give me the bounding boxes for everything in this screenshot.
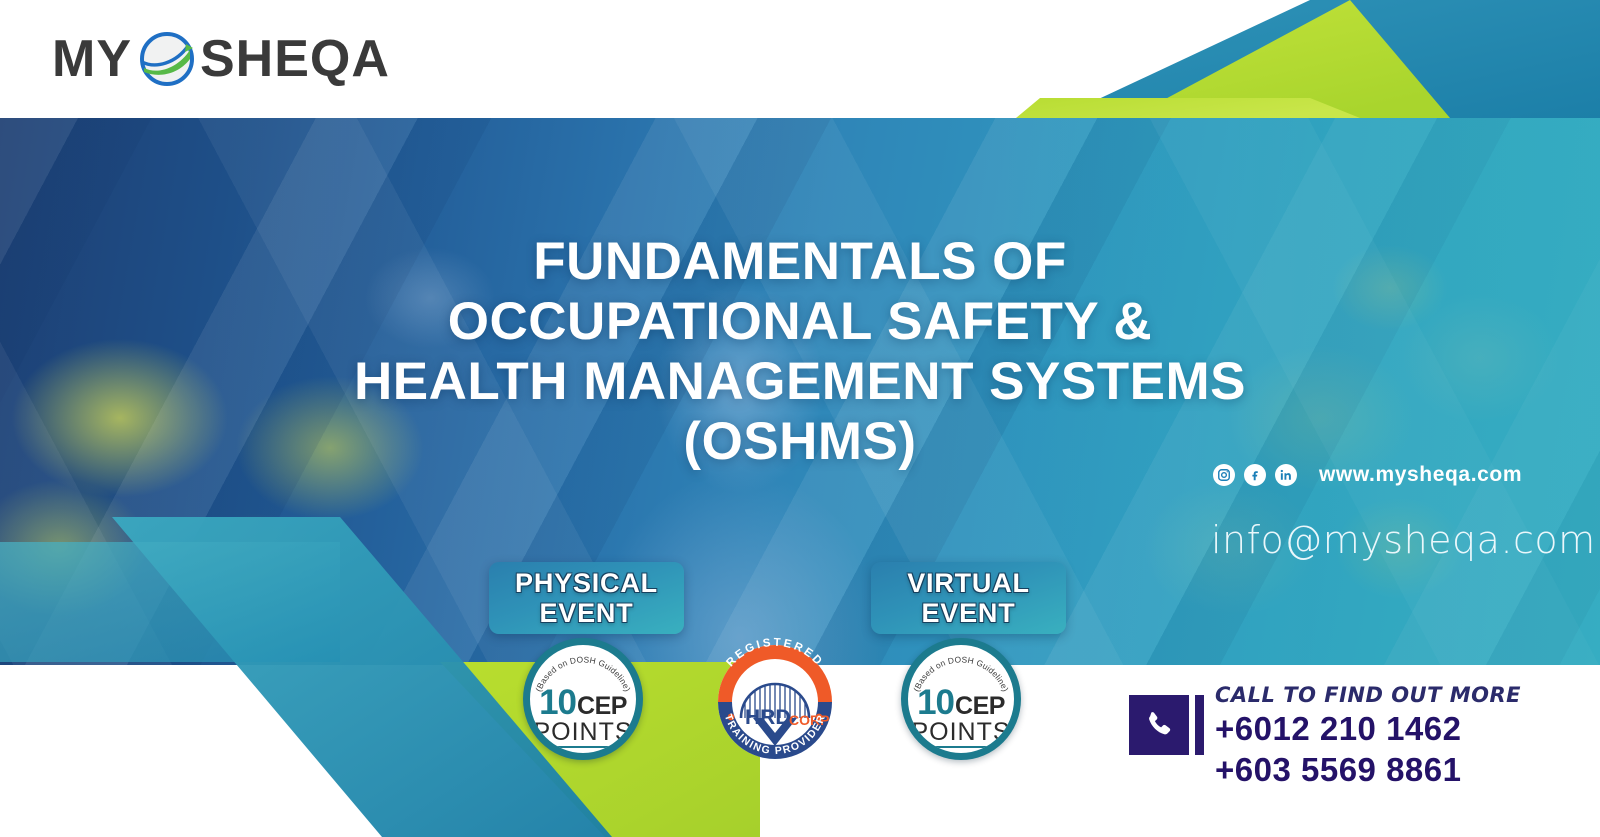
call-text-group: CALL TO FIND OUT MORE +6012 210 1462 +60… bbox=[1215, 682, 1521, 790]
poster-title: FUNDAMENTALS OF OCCUPATIONAL SAFETY & HE… bbox=[300, 232, 1300, 472]
teal-slab bbox=[0, 542, 340, 662]
physical-event-line2: EVENT bbox=[539, 598, 633, 628]
globe-swoosh-icon bbox=[136, 28, 198, 90]
facebook-icon[interactable] bbox=[1244, 464, 1266, 486]
phone-handset-icon bbox=[1129, 695, 1189, 755]
title-line-4: (OSHMS) bbox=[300, 412, 1300, 472]
phone-icon-group bbox=[1129, 695, 1207, 773]
instagram-icon[interactable] bbox=[1213, 464, 1235, 486]
email-address[interactable]: info@mysheqa.com bbox=[1211, 518, 1596, 562]
hrd-seal-svg: HRD CORP REGISTERED TRAINING PROVIDER bbox=[701, 634, 849, 764]
title-line-3: HEALTH MANAGEMENT SYSTEMS bbox=[300, 352, 1300, 412]
hrd-corp-registered-seal: HRD CORP REGISTERED TRAINING PROVIDER bbox=[701, 634, 849, 764]
svg-text:(Based on DOSH Guideline): (Based on DOSH Guideline) bbox=[533, 654, 633, 693]
cep-points-badge-physical: (Based on DOSH Guideline) 10 CEP POINTS bbox=[523, 638, 643, 760]
cep-label-right: POINTS bbox=[911, 719, 1010, 745]
call-to-action-block: CALL TO FIND OUT MORE +6012 210 1462 +60… bbox=[1129, 682, 1521, 790]
virtual-event-badge[interactable]: VIRTUAL EVENT bbox=[871, 562, 1066, 634]
physical-event-badge[interactable]: PHYSICAL EVENT bbox=[489, 562, 684, 634]
cep-rule-right bbox=[935, 746, 987, 748]
lime-strip bbox=[1016, 98, 1360, 118]
cep-note-right: (Based on DOSH Guideline) bbox=[911, 654, 1011, 693]
title-line-2: OCCUPATIONAL SAFETY & bbox=[300, 292, 1300, 352]
mysheqa-logo[interactable]: MY SHEQA bbox=[52, 28, 390, 90]
poster-canvas: FUNDAMENTALS OF OCCUPATIONAL SAFETY & HE… bbox=[0, 0, 1600, 837]
phone-number-2[interactable]: +603 5569 8861 bbox=[1215, 749, 1521, 790]
physical-event-line1: PHYSICAL bbox=[515, 568, 658, 598]
cep-arc-text-right: (Based on DOSH Guideline) bbox=[908, 648, 1014, 704]
cep-rule-left bbox=[557, 746, 609, 748]
hrd-center-main: HRD bbox=[745, 706, 791, 729]
virtual-event-line2: EVENT bbox=[921, 598, 1015, 628]
svg-text:(Based on DOSH Guideline): (Based on DOSH Guideline) bbox=[911, 654, 1011, 693]
linkedin-icon[interactable] bbox=[1275, 464, 1297, 486]
top-right-shapes-svg bbox=[980, 0, 1600, 130]
cep-arc-text-left: (Based on DOSH Guideline) bbox=[530, 648, 636, 704]
phone-number-1[interactable]: +6012 210 1462 bbox=[1215, 708, 1521, 749]
title-line-1: FUNDAMENTALS OF bbox=[300, 232, 1300, 292]
social-links-row: www.mysheqa.com bbox=[1213, 463, 1522, 487]
call-heading: CALL TO FIND OUT MORE bbox=[1215, 682, 1521, 708]
phone-accent-bar bbox=[1195, 695, 1204, 755]
logo-text-my: MY bbox=[52, 33, 132, 85]
cep-points-badge-virtual: (Based on DOSH Guideline) 10 CEP POINTS bbox=[901, 638, 1021, 760]
virtual-event-line1: VIRTUAL bbox=[907, 568, 1030, 598]
logo-text-sheqa: SHEQA bbox=[200, 33, 390, 85]
website-url[interactable]: www.mysheqa.com bbox=[1319, 463, 1522, 487]
cep-label-left: POINTS bbox=[533, 719, 632, 745]
top-right-geometric-decoration bbox=[980, 0, 1600, 130]
cep-note-left: (Based on DOSH Guideline) bbox=[533, 654, 633, 693]
